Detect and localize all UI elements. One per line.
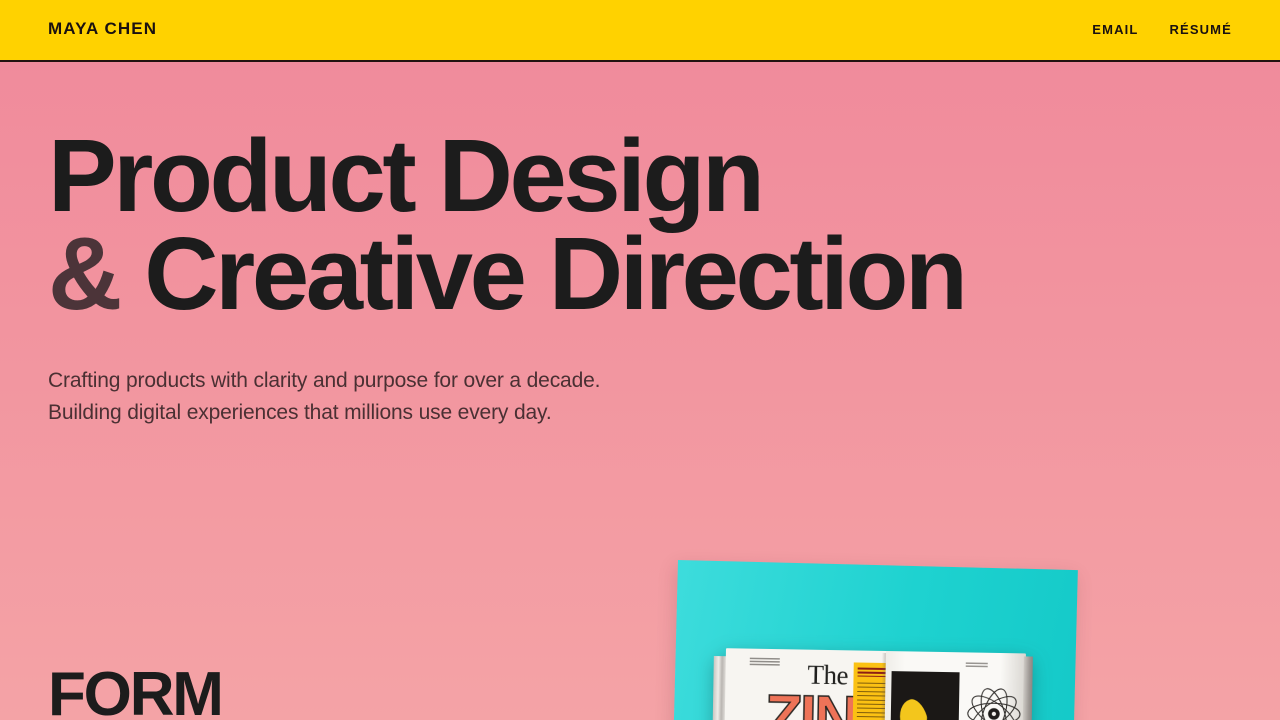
- brand-name[interactable]: MAYA CHEN: [48, 19, 157, 39]
- black-artwork-panel: [889, 671, 959, 720]
- magazine-masthead-title: ZIN: [764, 687, 856, 720]
- section-heading-form: FORM: [48, 664, 222, 720]
- nav-link-resume[interactable]: RÉSUMÉ: [1169, 22, 1232, 37]
- hero-subtitle-line-2: Building digital experiences that millio…: [48, 397, 1048, 429]
- hero-section: Product Design & Creative Direction Craf…: [48, 62, 1048, 429]
- portfolio-page: MAYA CHEN EMAIL RÉSUMÉ Product Design & …: [0, 0, 1280, 720]
- hero-title-line-2-text: Creative Direction: [144, 216, 964, 331]
- atom-diagram-icon: [964, 684, 1023, 720]
- kicker-text-lines: [750, 658, 780, 667]
- magazine-left-page: The ZIN: [723, 648, 886, 720]
- hero-subtitle-line-1: Crafting products with clarity and purpo…: [48, 365, 1048, 397]
- magazine-right-edge: [1021, 656, 1033, 720]
- folio-text-lines: [966, 662, 988, 668]
- yellow-pear-shape-a: [895, 696, 930, 720]
- nav-link-email[interactable]: EMAIL: [1092, 22, 1138, 37]
- site-header: MAYA CHEN EMAIL RÉSUMÉ: [0, 0, 1280, 62]
- open-magazine: The ZIN: [711, 648, 1034, 720]
- hero-title-line-2: & Creative Direction: [48, 225, 1048, 323]
- hero-ampersand: &: [48, 216, 119, 331]
- primary-nav: EMAIL RÉSUMÉ: [1092, 22, 1232, 37]
- showcase-image: The ZIN: [678, 560, 1080, 720]
- page-title: Product Design & Creative Direction: [48, 127, 1048, 323]
- hero-title-line-1: Product Design: [48, 127, 1048, 225]
- hero-subtitle: Crafting products with clarity and purpo…: [48, 365, 1048, 429]
